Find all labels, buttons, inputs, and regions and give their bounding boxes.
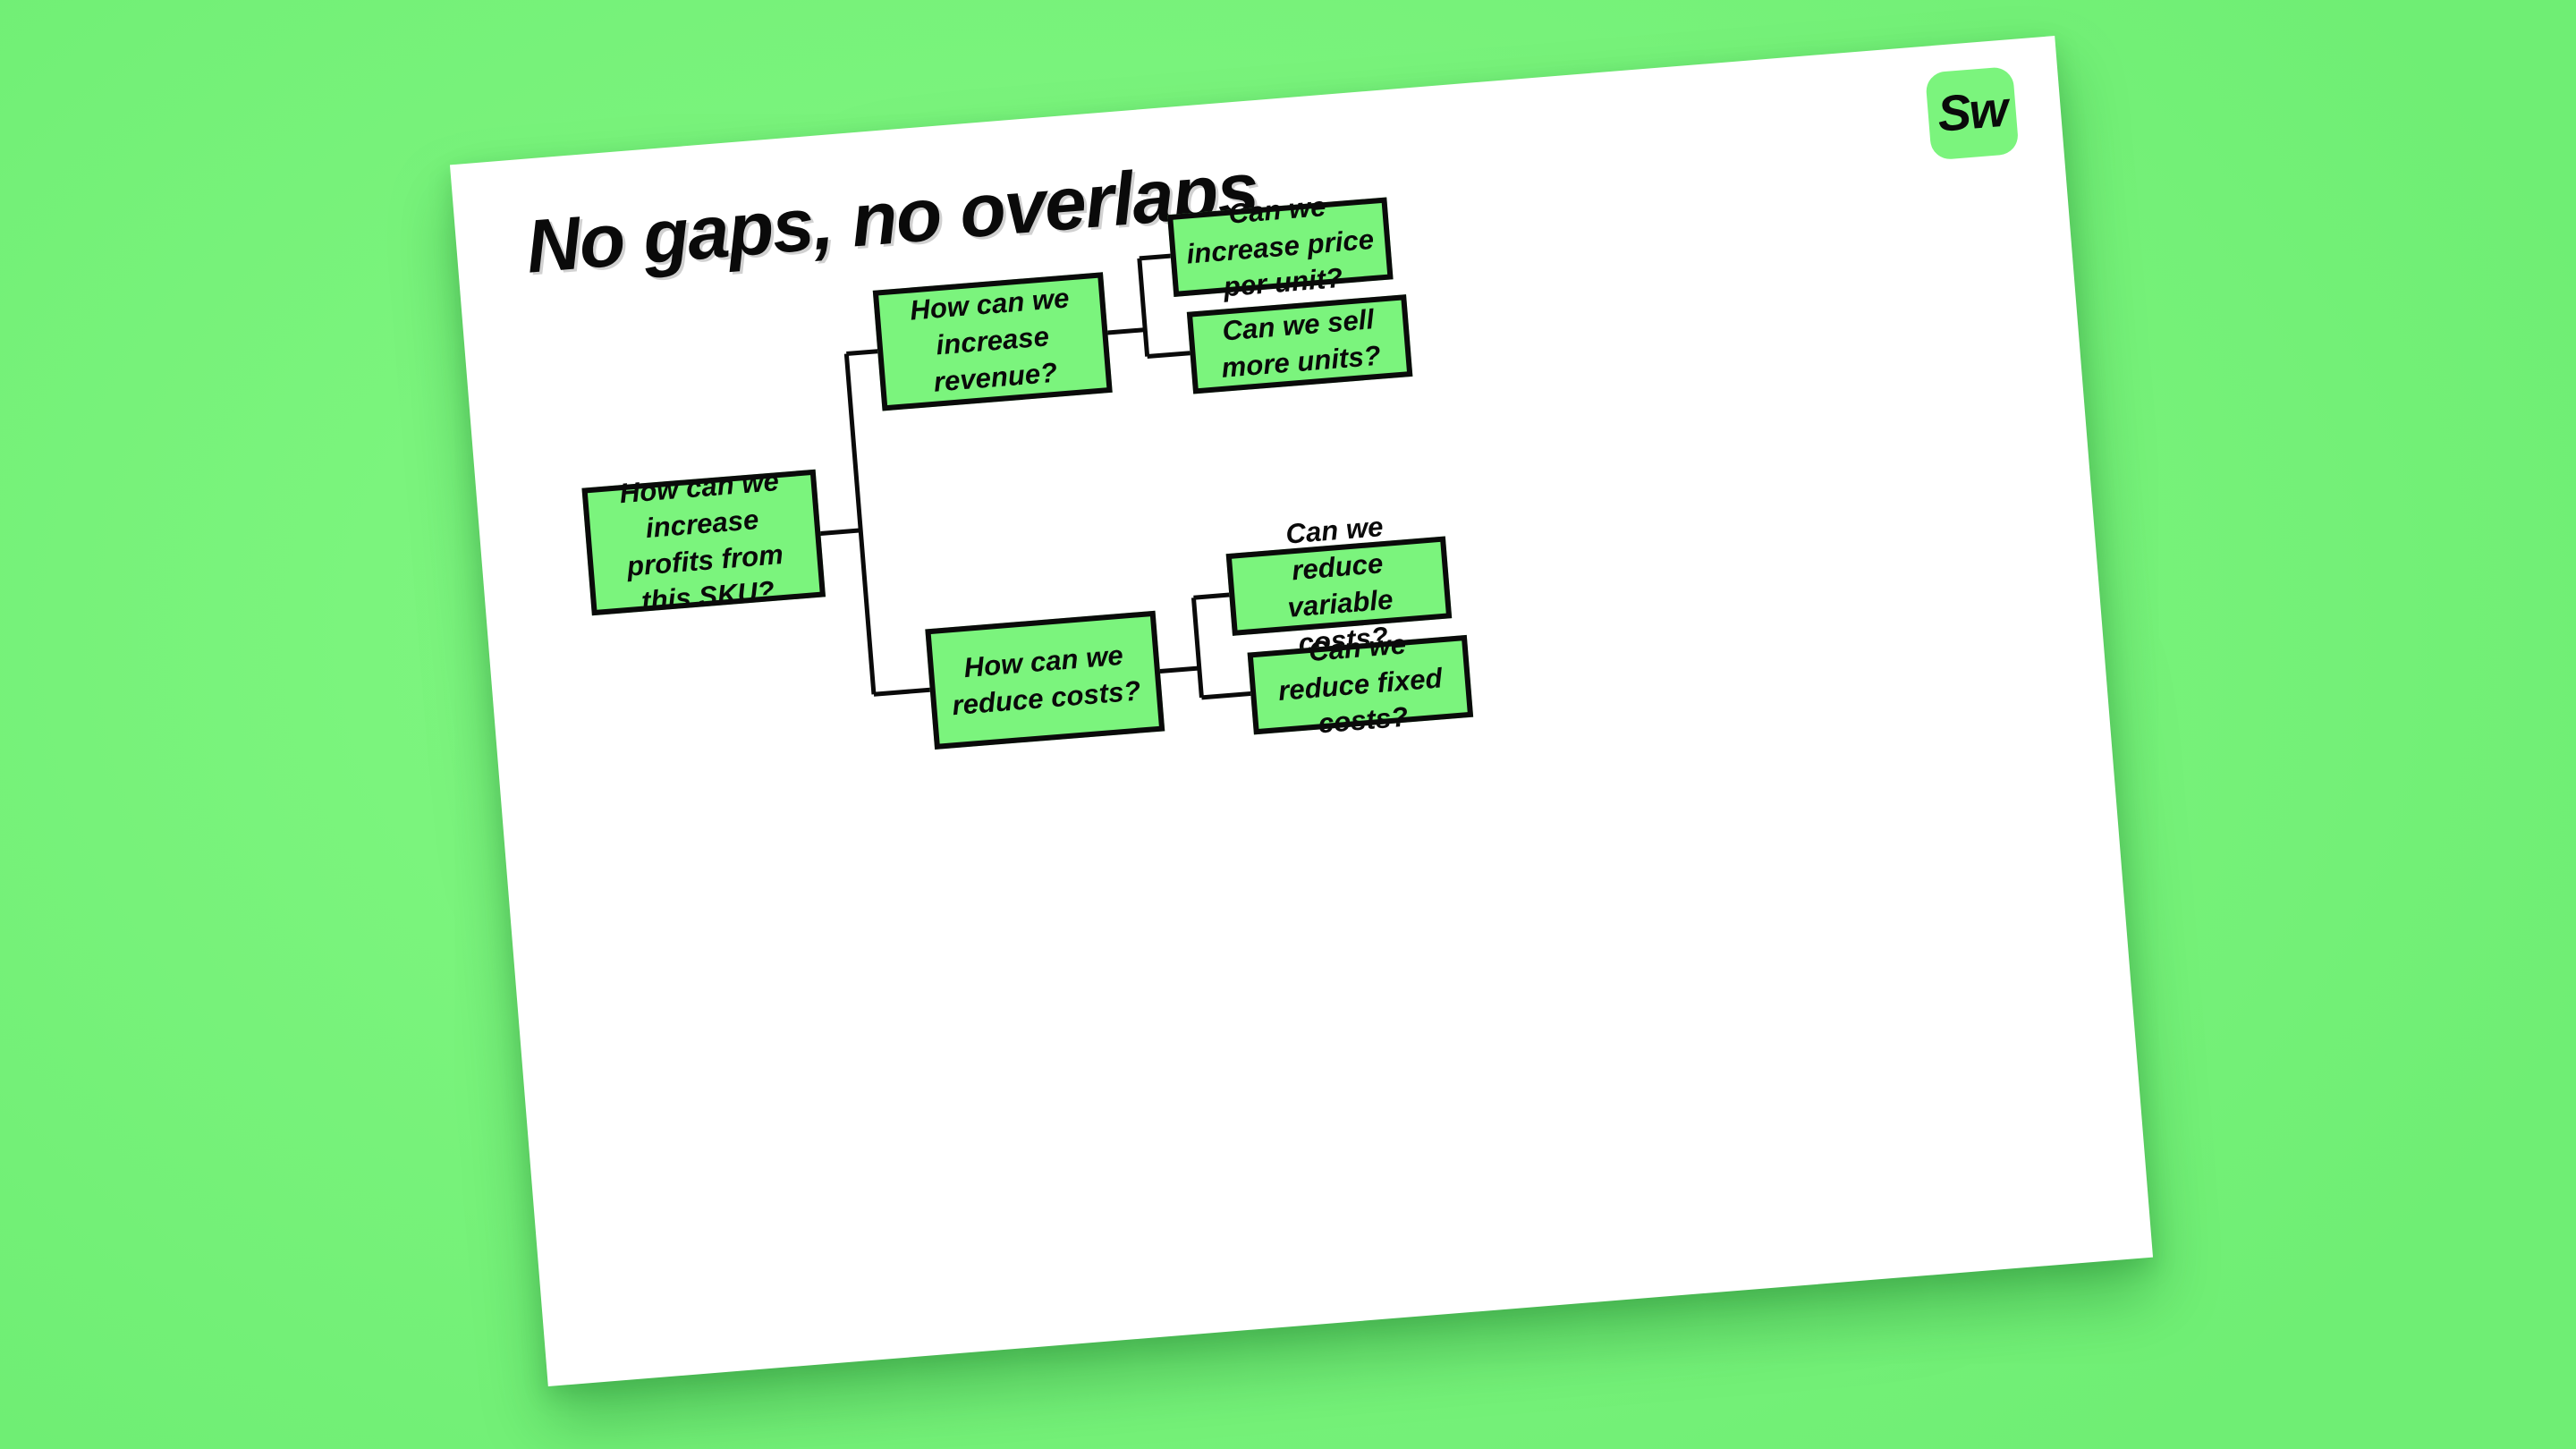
node-root[interactable]: How can we increase profits from this SK… (581, 470, 826, 616)
edge-revenue-trunk (1140, 258, 1148, 357)
edge-root-stub (820, 530, 860, 534)
edge-costs-to-fixed (1201, 693, 1250, 697)
edge-costs-to-variable (1193, 595, 1229, 597)
edge-costs-trunk (1193, 597, 1201, 698)
issue-tree-diagram: How can we increase profits from this SK… (450, 36, 2153, 1386)
edge-revenue-to-units (1148, 353, 1191, 357)
edge-revenue-to-price (1140, 256, 1171, 258)
edge-root-trunk (846, 354, 874, 695)
slide-canvas: No gaps, no overlaps Sw (0, 0, 2576, 1449)
edge-revenue-stub (1107, 330, 1145, 333)
edge-root-to-costs (874, 690, 930, 694)
edge-root-to-revenue (846, 352, 877, 354)
node-sell-more-units[interactable]: Can we sell more units? (1187, 294, 1413, 394)
node-reduce-costs[interactable]: How can we reduce costs? (925, 611, 1165, 750)
node-increase-revenue[interactable]: How can we increase revenue? (873, 272, 1113, 411)
node-reduce-variable-costs[interactable]: Can we reduce variable costs? (1226, 536, 1453, 635)
slide-card: No gaps, no overlaps Sw (450, 36, 2153, 1386)
node-increase-price-per-unit[interactable]: Can we increase price per unit? (1167, 198, 1394, 297)
node-reduce-fixed-costs[interactable]: Can we reduce fixed costs? (1248, 635, 1474, 734)
edge-costs-stub (1160, 668, 1199, 672)
